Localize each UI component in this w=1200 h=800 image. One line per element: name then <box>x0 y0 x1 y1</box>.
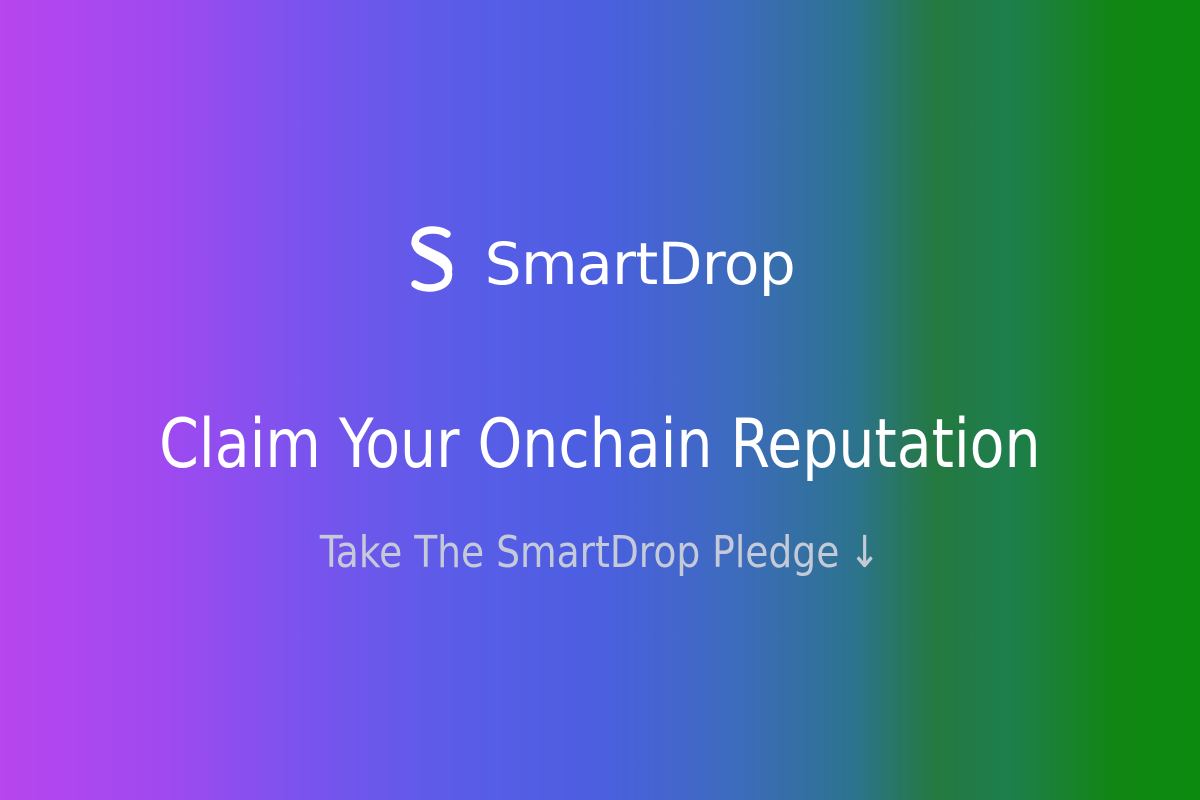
brand-name: SmartDrop <box>485 235 795 293</box>
hero-subtitle: Take The SmartDrop Pledge↓ <box>320 531 881 575</box>
hero-subtitle-text: Take The SmartDrop Pledge <box>320 527 840 578</box>
arrow-down-icon: ↓ <box>849 531 881 575</box>
hero-section: SmartDrop Claim Your Onchain Reputation … <box>0 0 1200 800</box>
brand-lockup: SmartDrop <box>405 225 795 303</box>
section-sign-icon <box>405 225 457 303</box>
page-title: Claim Your Onchain Reputation <box>159 411 1040 479</box>
